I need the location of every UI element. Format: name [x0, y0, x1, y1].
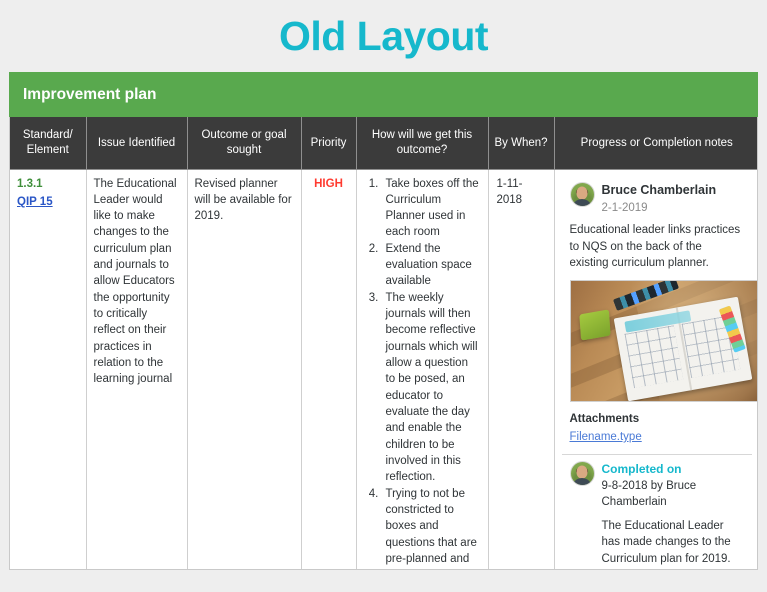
avatar-face	[577, 186, 588, 199]
column-header-how-line2: outcome?	[397, 144, 448, 156]
improvement-plan-table-wrapper: Standard/ Element Issue Identified Outco…	[9, 117, 758, 570]
section-header-improvement-plan: Improvement plan	[9, 72, 758, 117]
column-header-how-outcome: How will we get this outcome?	[356, 117, 488, 169]
progress-note-body: Educational leader links practices to NQ…	[570, 222, 745, 272]
completion-note: Completed on 9-8-2018 by Bruce Chamberla…	[562, 455, 753, 571]
how-step-item: Extend the evaluation space available	[382, 241, 481, 290]
column-header-standard-element: Standard/ Element	[10, 117, 86, 169]
progress-note: Bruce Chamberlain 2-1-2019 Educational l…	[562, 176, 753, 454]
progress-note-author: Bruce Chamberlain	[602, 183, 717, 198]
avatar-face	[577, 465, 588, 478]
column-header-by-when: By When?	[488, 117, 554, 169]
how-step-item: Trying to not be constricted to boxes an…	[382, 486, 481, 570]
photo-green-pot	[579, 309, 610, 340]
column-header-outcome-or-goal: Outcome or goal sought	[187, 117, 301, 169]
completed-by-line: 9-8-2018 by Bruce Chamberlain	[602, 478, 745, 511]
priority-badge: HIGH	[309, 176, 349, 192]
avatar	[570, 182, 595, 207]
how-step-item: The weekly journals will then become ref…	[382, 290, 481, 486]
improvement-plan-table: Standard/ Element Issue Identified Outco…	[10, 117, 758, 570]
table-row: 1.3.1 QIP 15 The Educational Leader woul…	[10, 169, 758, 570]
planner-photo[interactable]	[570, 280, 759, 402]
how-step-item: Take boxes off the Curriculum Planner us…	[382, 176, 481, 241]
page-root: Old Layout Improvement plan Standard/ El…	[0, 0, 767, 592]
cell-outcome-sought: Revised planner will be available for 20…	[187, 169, 301, 570]
completion-note-body: The Educational Leader has made changes …	[602, 518, 745, 570]
column-header-issue-identified: Issue Identified	[86, 117, 187, 169]
completion-note-header: Completed on 9-8-2018 by Bruce Chamberla…	[570, 461, 745, 511]
by-when-date: 1-11-2018	[496, 176, 547, 209]
completed-on-label: Completed on	[602, 462, 745, 476]
column-header-outcome-line1: Outcome or goal	[201, 129, 286, 141]
completion-note-meta: Completed on 9-8-2018 by Bruce Chamberla…	[602, 461, 745, 511]
avatar-body	[572, 199, 592, 207]
avatar	[570, 461, 595, 486]
qip-link[interactable]: QIP 15	[17, 194, 53, 210]
table-body: 1.3.1 QIP 15 The Educational Leader woul…	[10, 169, 758, 570]
progress-note-meta: Bruce Chamberlain 2-1-2019	[602, 182, 717, 216]
progress-note-header: Bruce Chamberlain 2-1-2019	[570, 182, 745, 216]
cell-standard-element: 1.3.1 QIP 15	[10, 169, 86, 570]
column-header-standard-line2: Element	[27, 144, 69, 156]
column-header-priority: Priority	[301, 117, 356, 169]
section-header-label: Improvement plan	[23, 86, 157, 104]
cell-how-outcome: Take boxes off the Curriculum Planner us…	[356, 169, 488, 570]
cell-by-when: 1-11-2018	[488, 169, 554, 570]
cell-progress-notes: Bruce Chamberlain 2-1-2019 Educational l…	[554, 169, 758, 570]
avatar-body	[572, 478, 592, 486]
page-title: Old Layout	[279, 16, 488, 57]
column-header-progress-notes: Progress or Completion notes	[554, 117, 758, 169]
cell-issue-identified: The Educational Leader would like to mak…	[86, 169, 187, 570]
column-header-outcome-line2: sought	[227, 144, 262, 156]
column-header-standard-line1: Standard/	[23, 129, 73, 141]
cell-priority: HIGH	[301, 169, 356, 570]
attachments-label: Attachments	[570, 411, 745, 427]
standard-code: 1.3.1	[17, 176, 79, 192]
progress-note-date: 2-1-2019	[602, 200, 717, 216]
how-steps-list: Take boxes off the Curriculum Planner us…	[364, 176, 481, 571]
column-header-how-line1: How will we get this	[372, 129, 472, 141]
photo-planner-grid-left	[624, 325, 683, 388]
table-header-row: Standard/ Element Issue Identified Outco…	[10, 117, 758, 169]
table-header: Standard/ Element Issue Identified Outco…	[10, 117, 758, 169]
attachment-file-link[interactable]: Filename.type	[570, 429, 642, 445]
page-title-bar: Old Layout	[0, 0, 767, 72]
